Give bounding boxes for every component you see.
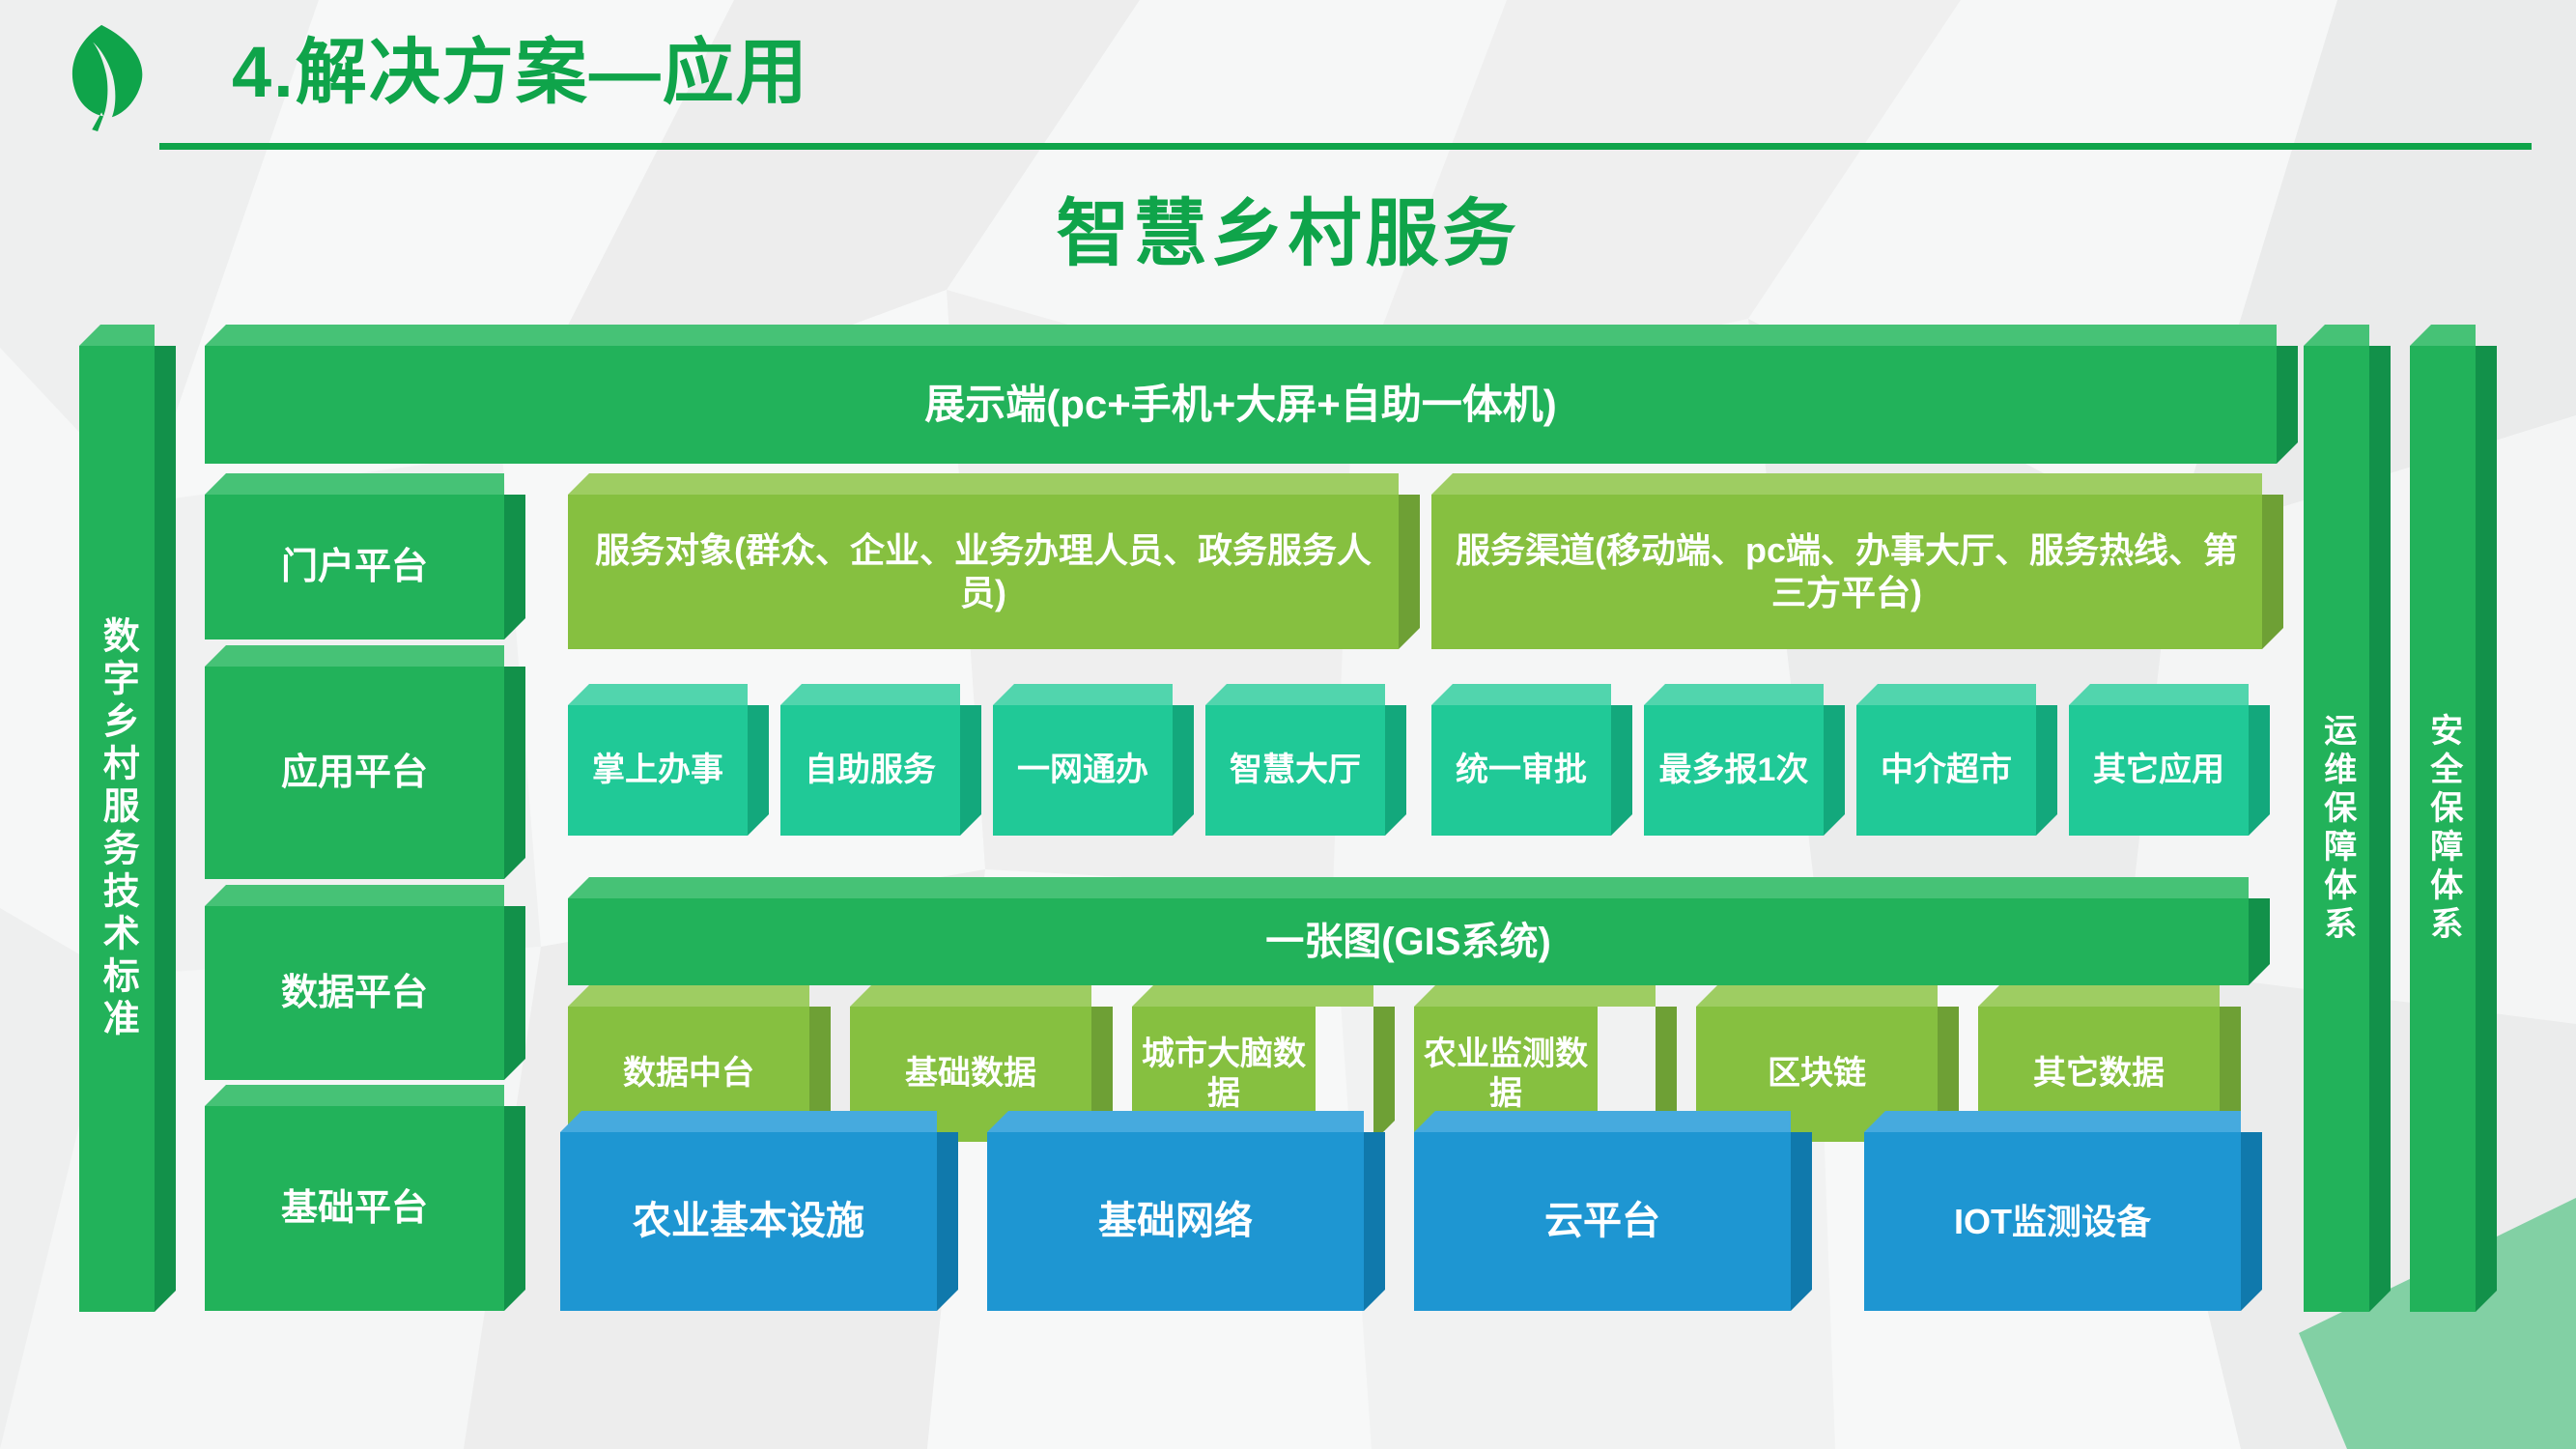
box-side-face — [1611, 705, 1632, 836]
portal-box-service-targets[interactable]: 服务对象(群众、企业、业务办理人员、政务服务人员) — [568, 495, 1399, 649]
right-pillar-security[interactable]: 安全保障体系 — [2410, 346, 2476, 1312]
main-title: 智慧乡村服务 — [0, 174, 2576, 280]
application-box-label-2: 一网通办 — [993, 705, 1173, 836]
application-box-5[interactable]: 最多报1次 — [1644, 705, 1824, 836]
box-side-face — [937, 1132, 958, 1311]
pillar-top-face — [79, 325, 155, 346]
box-top-face — [568, 684, 748, 705]
leaf-logo-icon — [53, 17, 159, 133]
left-pillar-label: 数字乡村服务技术标准 — [79, 346, 155, 1312]
banner-side-face — [2277, 346, 2298, 464]
header-divider — [159, 143, 2532, 150]
box-side-face — [1399, 495, 1420, 649]
infrastructure-box-label-2: 云平台 — [1414, 1132, 1791, 1311]
tier-side-face — [504, 1106, 525, 1311]
pillar-side-face — [2369, 346, 2391, 1312]
box-side-face — [1364, 1132, 1385, 1311]
tier-label-application[interactable]: 应用平台 — [205, 667, 504, 879]
tier-label-2: 数据平台 — [205, 906, 504, 1080]
application-box-7[interactable]: 其它应用 — [2069, 705, 2249, 836]
box-side-face — [960, 705, 981, 836]
tier-label-portal[interactable]: 门户平台 — [205, 495, 504, 639]
box-side-face — [1173, 705, 1194, 836]
box-top-face — [1864, 1111, 2241, 1132]
application-box-6[interactable]: 中介超市 — [1856, 705, 2036, 836]
application-box-label-3: 智慧大厅 — [1205, 705, 1385, 836]
box-top-face — [850, 985, 1091, 1007]
box-top-face — [1644, 684, 1824, 705]
box-top-face — [1414, 1111, 1791, 1132]
box-top-face — [2069, 684, 2249, 705]
application-box-label-4: 统一审批 — [1431, 705, 1611, 836]
infrastructure-box-label-3: IOT监测设备 — [1864, 1132, 2241, 1311]
application-box-label-5: 最多报1次 — [1644, 705, 1824, 836]
box-top-face — [987, 1111, 1364, 1132]
box-side-face — [748, 705, 769, 836]
application-box-4[interactable]: 统一审批 — [1431, 705, 1611, 836]
box-top-face — [780, 684, 960, 705]
box-side-face — [1791, 1132, 1812, 1311]
box-top-face — [568, 985, 809, 1007]
tier-top-face — [205, 1085, 504, 1106]
page-title: 4.解决方案—应用 — [232, 19, 809, 126]
box-top-face — [1978, 985, 2220, 1007]
infrastructure-box-1[interactable]: 基础网络 — [987, 1132, 1364, 1311]
pillar-side-face — [155, 346, 176, 1312]
box-side-face — [2241, 1132, 2262, 1311]
banner-top-face — [568, 877, 2249, 898]
tier-label-3: 基础平台 — [205, 1106, 504, 1311]
application-box-label-7: 其它应用 — [2069, 705, 2249, 836]
application-box-label-0: 掌上办事 — [568, 705, 748, 836]
infrastructure-box-2[interactable]: 云平台 — [1414, 1132, 1791, 1311]
application-box-label-1: 自助服务 — [780, 705, 960, 836]
tier-top-face — [205, 645, 504, 667]
box-top-face — [1431, 684, 1611, 705]
tier-label-1: 应用平台 — [205, 667, 504, 879]
infrastructure-box-3[interactable]: IOT监测设备 — [1864, 1132, 2241, 1311]
portal-box-label-1: 服务渠道(移动端、pc端、办事大厅、服务热线、第三方平台) — [1431, 495, 2262, 649]
tier-label-0: 门户平台 — [205, 495, 504, 639]
tier-side-face — [504, 906, 525, 1080]
right-pillar-label-1: 安全保障体系 — [2410, 346, 2476, 1312]
box-top-face — [560, 1111, 937, 1132]
display-banner[interactable]: 展示端(pc+手机+大屏+自助一体机) — [205, 346, 2277, 464]
application-box-3[interactable]: 智慧大厅 — [1205, 705, 1385, 836]
box-side-face — [1373, 1007, 1395, 1142]
application-box-1[interactable]: 自助服务 — [780, 705, 960, 836]
box-top-face — [993, 684, 1173, 705]
box-side-face — [2262, 495, 2283, 649]
box-top-face — [1696, 985, 1938, 1007]
architecture-diagram: 数字乡村服务技术标准 运维保障体系 安全保障体系 展示端(pc+手机+大屏+自助… — [0, 319, 2576, 1401]
pillar-top-face — [2304, 325, 2369, 346]
box-side-face — [2036, 705, 2057, 836]
tier-top-face — [205, 885, 504, 906]
box-side-face — [1824, 705, 1845, 836]
box-top-face — [1205, 684, 1385, 705]
right-pillar-operations[interactable]: 运维保障体系 — [2304, 346, 2369, 1312]
box-side-face — [2249, 705, 2270, 836]
tier-label-infrastructure[interactable]: 基础平台 — [205, 1106, 504, 1311]
banner-side-face — [2249, 898, 2270, 985]
page-header: 4.解决方案—应用 — [0, 0, 2576, 155]
display-banner-label: 展示端(pc+手机+大屏+自助一体机) — [205, 346, 2277, 464]
box-top-face — [1856, 684, 2036, 705]
application-box-label-6: 中介超市 — [1856, 705, 2036, 836]
tier-side-face — [504, 495, 525, 639]
box-top-face — [568, 473, 1399, 495]
left-pillar-standards[interactable]: 数字乡村服务技术标准 — [79, 346, 155, 1312]
portal-box-service-channels[interactable]: 服务渠道(移动端、pc端、办事大厅、服务热线、第三方平台) — [1431, 495, 2262, 649]
banner-top-face — [205, 325, 2277, 346]
application-box-2[interactable]: 一网通办 — [993, 705, 1173, 836]
tier-side-face — [504, 667, 525, 879]
infrastructure-box-label-1: 基础网络 — [987, 1132, 1364, 1311]
portal-box-label-0: 服务对象(群众、企业、业务办理人员、政务服务人员) — [568, 495, 1399, 649]
box-top-face — [1414, 985, 1656, 1007]
right-pillar-label-0: 运维保障体系 — [2304, 346, 2369, 1312]
tier-label-data[interactable]: 数据平台 — [205, 906, 504, 1080]
application-box-0[interactable]: 掌上办事 — [568, 705, 748, 836]
pillar-top-face — [2410, 325, 2476, 346]
infrastructure-box-0[interactable]: 农业基本设施 — [560, 1132, 937, 1311]
gis-banner-label: 一张图(GIS系统) — [568, 898, 2249, 985]
pillar-side-face — [2476, 346, 2497, 1312]
box-top-face — [1431, 473, 2262, 495]
gis-banner[interactable]: 一张图(GIS系统) — [568, 898, 2249, 985]
box-side-face — [1385, 705, 1406, 836]
infrastructure-box-label-0: 农业基本设施 — [560, 1132, 937, 1311]
box-top-face — [1132, 985, 1373, 1007]
tier-top-face — [205, 473, 504, 495]
